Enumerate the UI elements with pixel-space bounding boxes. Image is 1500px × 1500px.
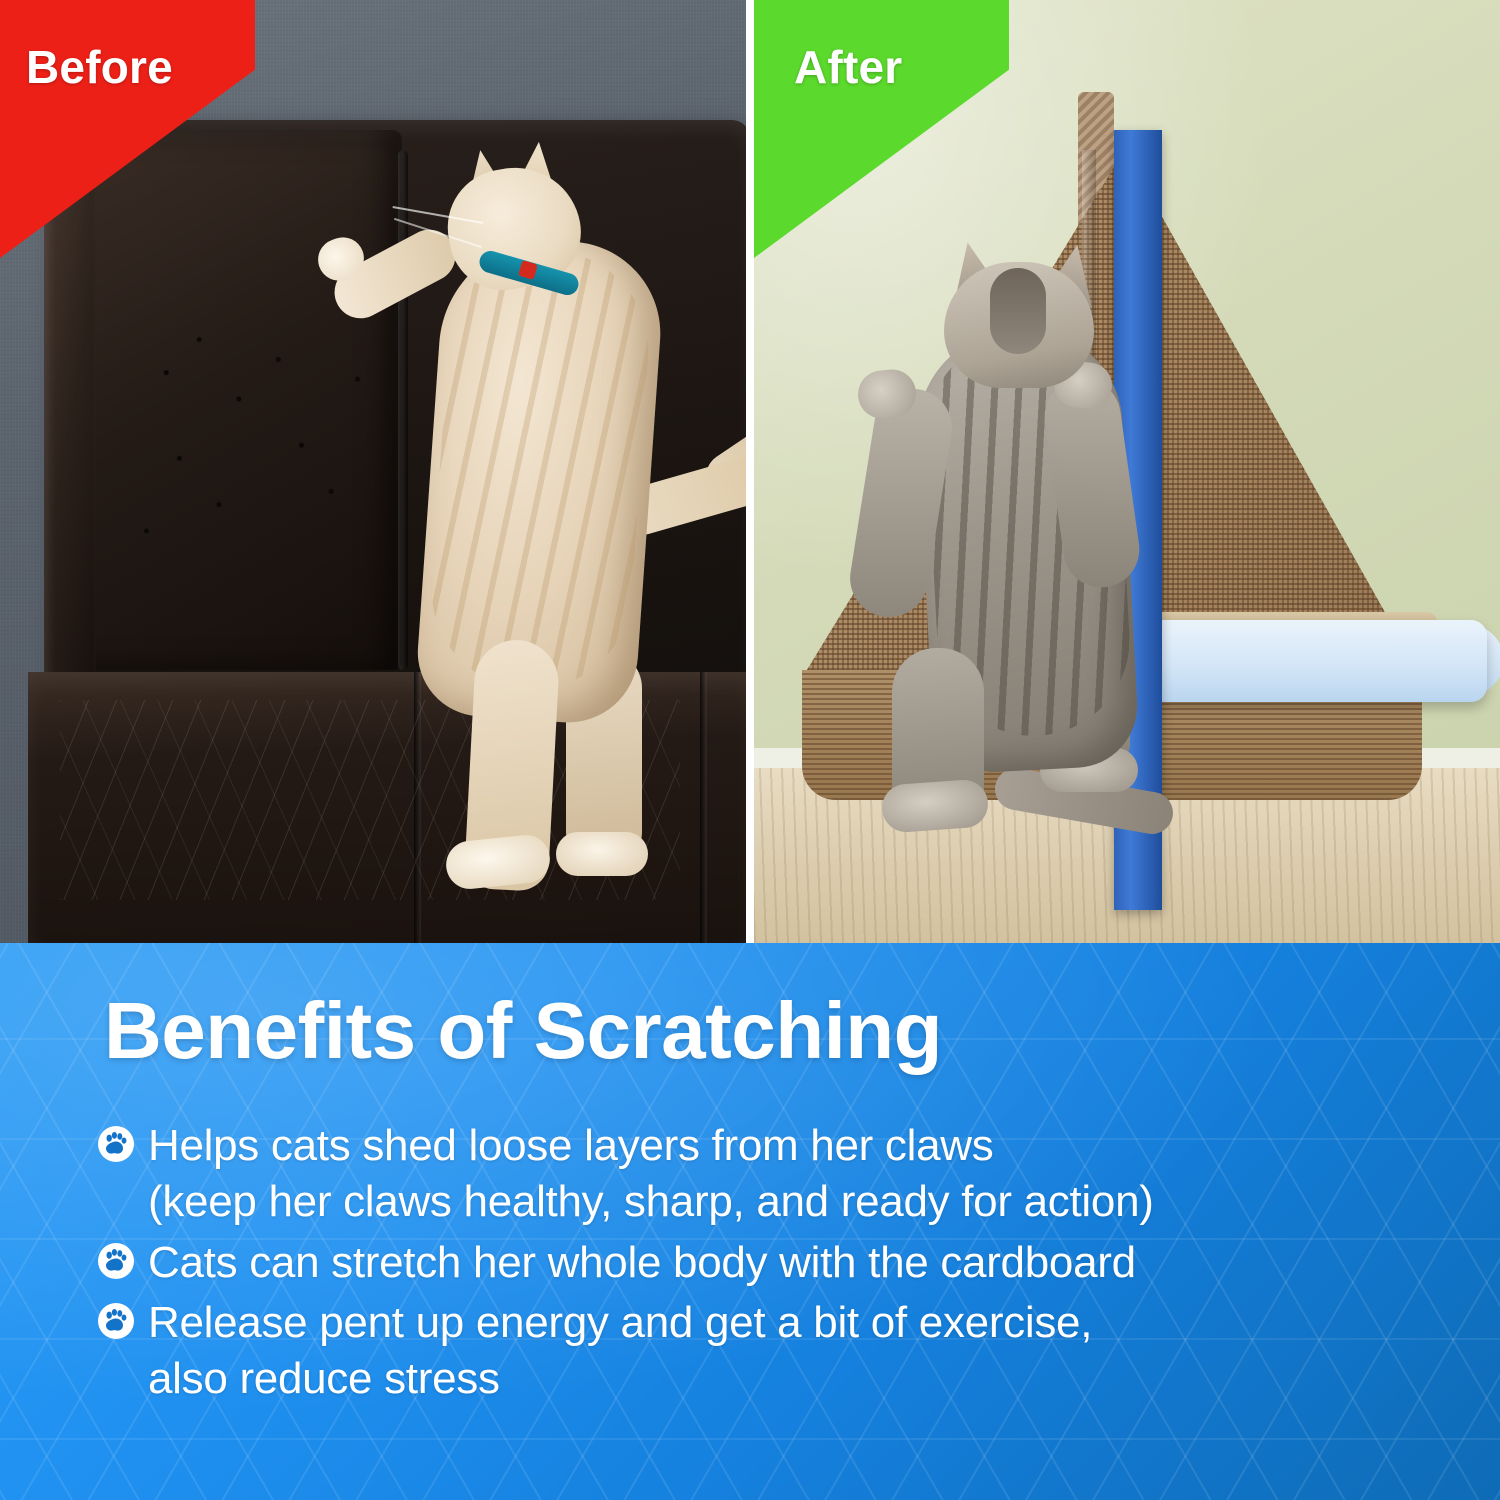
list-item-text: Release pent up energy and get a bit of … (148, 1295, 1092, 1408)
benefits-heading: Benefits of Scratching (104, 991, 942, 1071)
product-infographic: Before After Benefits of Scratching (0, 0, 1500, 1500)
paw-icon (98, 1126, 134, 1162)
list-item-line1: Helps cats shed loose layers from her cl… (148, 1121, 993, 1170)
paw-icon (98, 1303, 134, 1339)
cream-cat-far-foot (556, 832, 648, 876)
list-item: Helps cats shed loose layers from her cl… (98, 1118, 1418, 1231)
tabby-kitten-foot-left (880, 778, 989, 833)
benefits-section: Benefits of Scratching Helps cats sh (0, 943, 1500, 1500)
benefits-content: Benefits of Scratching Helps cats sh (0, 943, 1500, 1500)
benefits-list: Helps cats shed loose layers from her cl… (98, 1118, 1418, 1412)
list-item-text: Cats can stretch her whole body with the… (148, 1235, 1136, 1291)
couch-seam (398, 150, 408, 670)
cream-cat-stripes (425, 244, 655, 697)
list-item-line1: Release pent up energy and get a bit of … (148, 1298, 1092, 1347)
list-item-line2: (keep her claws healthy, sharp, and read… (148, 1174, 1154, 1230)
list-item: Release pent up energy and get a bit of … (98, 1295, 1418, 1408)
paw-icon (98, 1243, 134, 1279)
before-after-photo-row: Before After (0, 0, 1500, 943)
list-item: Cats can stretch her whole body with the… (98, 1235, 1418, 1291)
list-item-line2: also reduce stress (148, 1351, 1092, 1407)
tabby-kitten-head-marking (990, 268, 1046, 354)
list-item-line1: Cats can stretch her whole body with the… (148, 1238, 1136, 1287)
seat-seam-right (700, 672, 707, 943)
after-ribbon-label: After (794, 40, 902, 94)
before-ribbon-label: Before (26, 40, 173, 94)
list-item-text: Helps cats shed loose layers from her cl… (148, 1118, 1154, 1231)
